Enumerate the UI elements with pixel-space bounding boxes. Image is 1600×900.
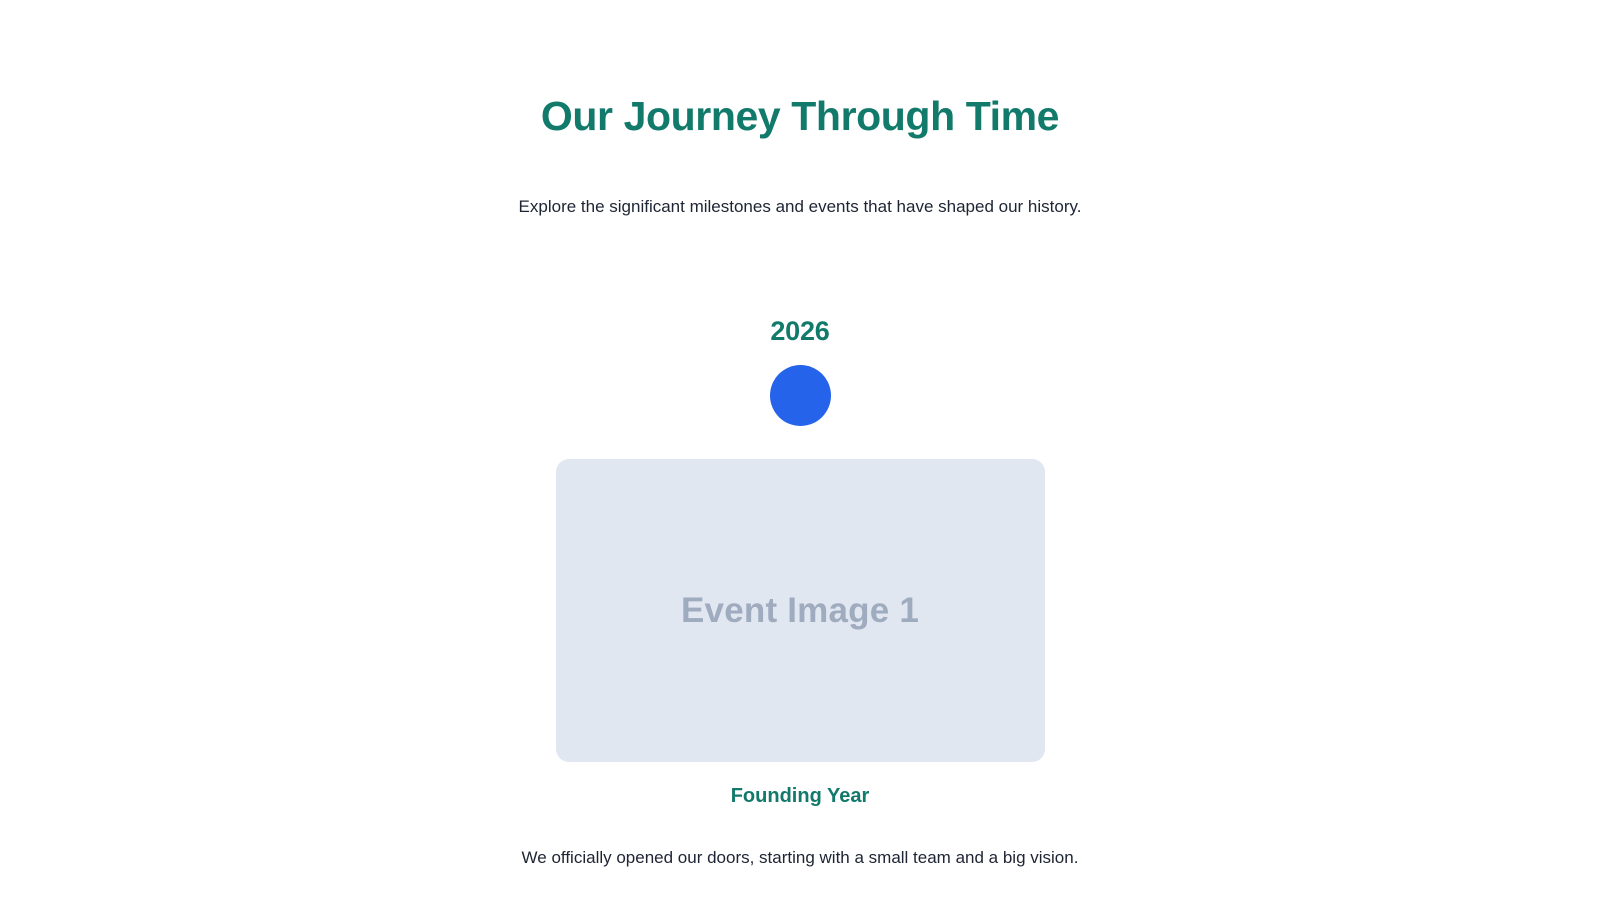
timeline-list: 2026 Event Image 1 Founding Year We offi… — [0, 220, 1600, 871]
page-header: Our Journey Through Time Explore the sig… — [0, 0, 1600, 220]
timeline-entry-image-label: Event Image 1 — [681, 590, 919, 632]
timeline-dot-icon — [770, 365, 831, 426]
timeline-entry-image-placeholder[interactable]: Event Image 1 — [556, 459, 1045, 762]
page-title: Our Journey Through Time — [0, 92, 1600, 140]
timeline-entry-description: We officially opened our doors, starting… — [522, 809, 1079, 871]
timeline-entry[interactable]: 2026 Event Image 1 Founding Year We offi… — [0, 220, 1600, 871]
timeline-page: Our Journey Through Time Explore the sig… — [0, 0, 1600, 900]
timeline-entry-year: 2026 — [770, 220, 829, 347]
timeline-entry-title: Founding Year — [731, 762, 870, 809]
page-subtitle: Explore the significant milestones and e… — [0, 140, 1600, 220]
